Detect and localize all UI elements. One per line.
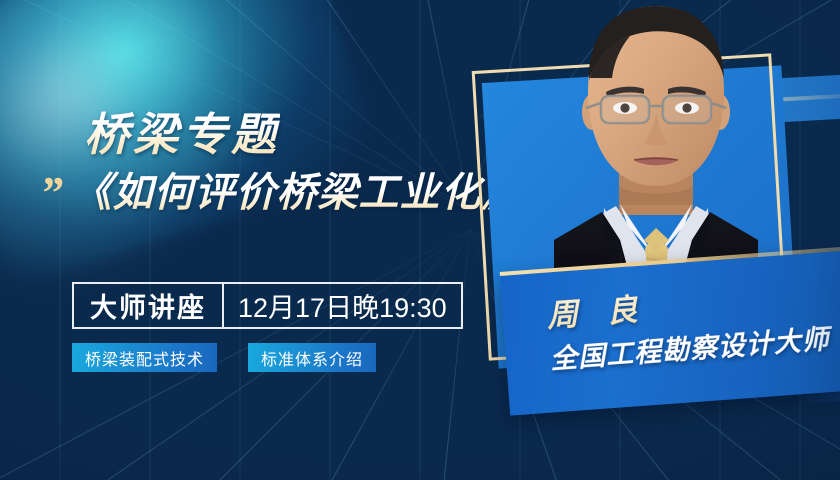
webinar-poster: 桥梁专题 ” 《如何评价桥梁工业化》 ” 大师讲座 12月17日晚19:30 桥…: [0, 0, 840, 480]
lecture-datetime: 12月17日晚19:30: [224, 284, 461, 327]
topic-tag: 标准体系介绍: [248, 343, 376, 372]
lecture-info-box: 大师讲座 12月17日晚19:30: [72, 282, 463, 329]
lecture-type-label: 大师讲座: [74, 284, 222, 327]
quote-open-icon: ”: [40, 170, 63, 216]
page-title: 桥梁专题: [84, 98, 280, 163]
topic-tag-list: 桥梁装配式技术 标准体系介绍: [72, 343, 376, 372]
topic-tag: 桥梁装配式技术: [72, 343, 217, 372]
nameplate-text: 周 良 全国工程勘察设计大师: [545, 270, 831, 376]
subtitle: 《如何评价桥梁工业化》: [71, 168, 522, 218]
speaker-nameplate: 周 良 全国工程勘察设计大师: [500, 247, 840, 416]
